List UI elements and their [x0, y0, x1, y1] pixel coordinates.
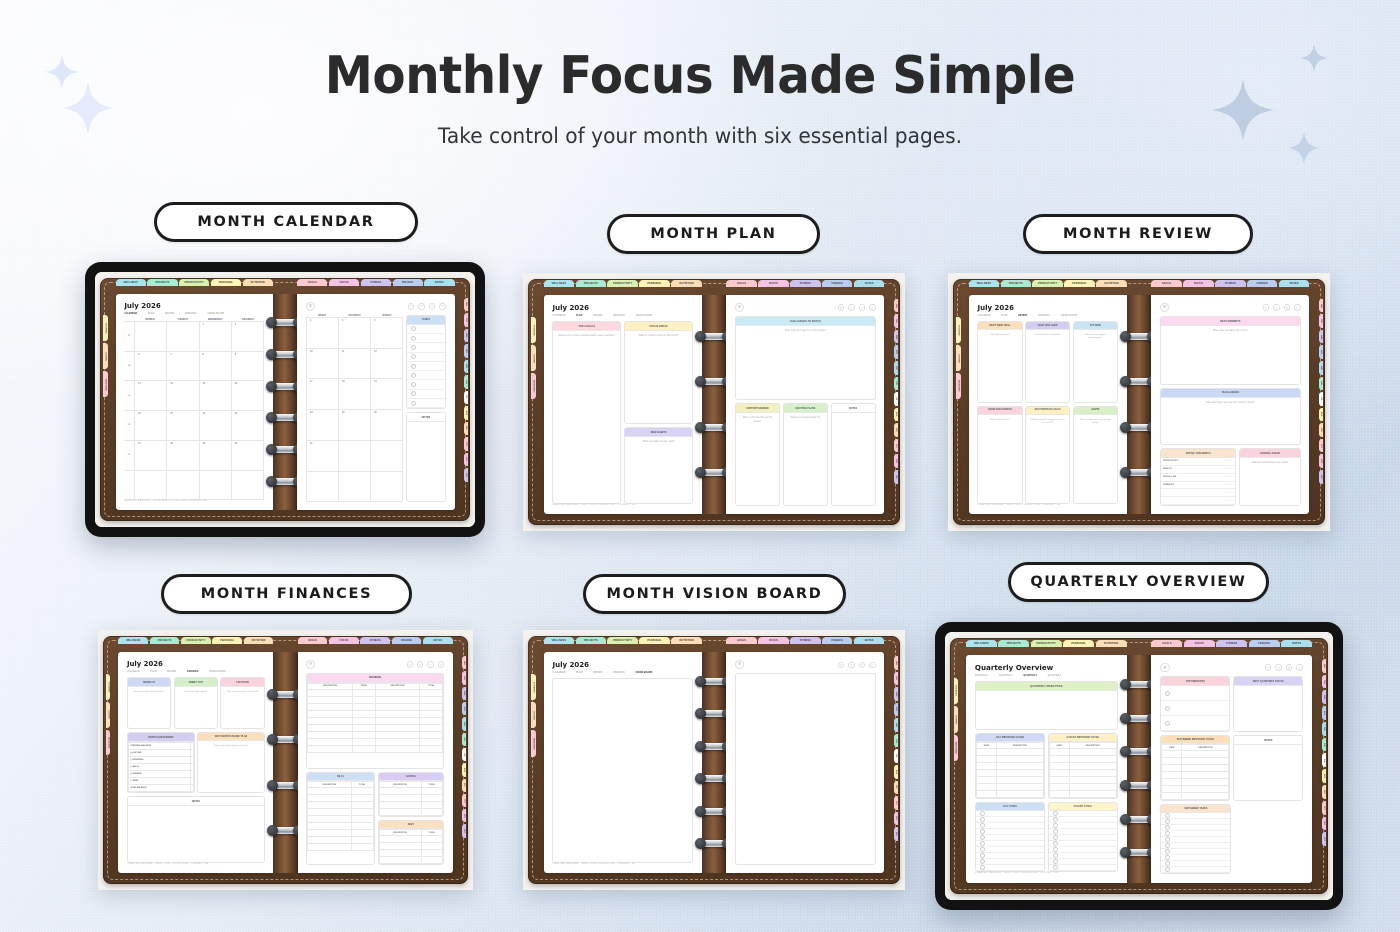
table-cell[interactable]	[1182, 751, 1229, 758]
top-tab-finance[interactable]: FINANCE	[393, 279, 423, 286]
table-cell[interactable]	[1069, 777, 1116, 784]
calendar-day-cell[interactable]: 5	[370, 318, 403, 348]
table-cell[interactable]	[351, 823, 373, 830]
calendar-day-cell[interactable]	[166, 471, 198, 500]
table-cell[interactable]	[308, 710, 353, 717]
calendar-day-cell[interactable]	[306, 472, 338, 502]
menu-icon[interactable]: ≡	[735, 303, 744, 312]
table-cell[interactable]	[1069, 791, 1116, 798]
star-rating[interactable]: ○○○○○	[1224, 484, 1233, 486]
table-row[interactable]	[308, 802, 373, 809]
mockup-month-finances[interactable]: July 2026CALENDAR·PLAN·REVIEW·FINANCES·V…	[98, 630, 473, 890]
table-row[interactable]	[379, 809, 442, 816]
rating-row[interactable]: PRODUCTIVITY○○○○○	[1161, 458, 1235, 466]
side-tab-apr[interactable]: APR	[894, 345, 898, 359]
side-tab-sep[interactable]: SEP	[1319, 423, 1323, 437]
table-cell[interactable]	[379, 857, 421, 864]
list-item[interactable]	[407, 399, 445, 408]
top-tab-finance[interactable]: FINANCE	[1249, 640, 1280, 647]
top-tab-goals[interactable]: GOALS	[298, 637, 328, 644]
side-tab-may[interactable]: MAY	[1322, 722, 1326, 736]
top-tab-goals[interactable]: GOALS	[726, 637, 756, 644]
side-tab-jun[interactable]: JUN	[1319, 377, 1323, 391]
calendar-day-cell[interactable]: 12	[370, 349, 403, 379]
table-cell[interactable]	[1049, 763, 1069, 770]
list-item[interactable]	[1161, 867, 1230, 873]
side-tab-nov[interactable]: NOV	[462, 809, 466, 822]
menu-icon[interactable]: ≡	[306, 302, 315, 311]
side-tab-dec[interactable]: DEC	[894, 827, 898, 841]
calendar-day-cell[interactable]: 18	[338, 379, 370, 409]
checkbox-icon[interactable]	[1165, 867, 1170, 872]
top-tab-finance[interactable]: FINANCE	[822, 280, 852, 287]
mockup-month-vision-board[interactable]: July 2026CALENDAR·PLAN·REVIEW·FINANCES·V…	[523, 630, 905, 890]
rating-row[interactable]: FINANCES○○○○○	[1161, 482, 1235, 490]
side-tab-oct[interactable]: OCT	[1319, 439, 1323, 453]
list-item[interactable]	[407, 371, 445, 380]
target-icon[interactable]: ○	[838, 662, 845, 669]
list-item[interactable]	[407, 380, 445, 389]
breakdown-row[interactable]: (-) BILLS	[128, 764, 193, 771]
checkbox-icon[interactable]	[411, 364, 416, 369]
checkbox-icon[interactable]	[980, 847, 985, 852]
checkbox-icon[interactable]	[1165, 849, 1170, 854]
table-cell[interactable]	[421, 802, 442, 809]
table-cell[interactable]	[352, 731, 375, 738]
table-cell[interactable]	[375, 689, 420, 696]
breakdown-value[interactable]	[190, 764, 193, 771]
calendar-day-cell[interactable]	[338, 472, 370, 502]
side-tab-covers[interactable]: COVERS	[954, 706, 958, 733]
breakdown-row[interactable]: FINAL BALANCE	[128, 785, 193, 792]
checkbox-icon[interactable]	[1165, 831, 1170, 836]
top-tab-personal[interactable]: PERSONAL	[212, 637, 242, 644]
side-tab-jun[interactable]: JUN	[462, 733, 466, 746]
breakdown-value[interactable]	[190, 778, 193, 785]
side-tab-jan[interactable]: JAN	[894, 299, 898, 313]
side-tab-apr[interactable]: APR	[894, 703, 898, 717]
top-tab-wellness[interactable]: WELLNESS	[116, 279, 146, 286]
top-tab-projects[interactable]: PROJECTS	[150, 637, 180, 644]
side-tab-jul[interactable]: JUL	[1322, 753, 1326, 767]
checkbox-icon[interactable]	[1165, 813, 1170, 818]
label-month-calendar[interactable]: MONTH CALENDAR	[154, 202, 418, 242]
side-tab-jun[interactable]: JUN	[894, 377, 898, 391]
table-cell[interactable]	[308, 717, 353, 724]
table-row[interactable]	[1162, 758, 1229, 765]
side-tab-aug[interactable]: AUG	[462, 763, 466, 776]
table-cell[interactable]	[1069, 749, 1116, 756]
breakdown-row[interactable]: (+) INCOME	[128, 750, 193, 757]
side-tab-nov[interactable]: NOV	[1322, 817, 1326, 831]
table-cell[interactable]	[1182, 786, 1229, 793]
checkbox-icon[interactable]	[411, 345, 416, 350]
table-cell[interactable]	[351, 802, 373, 809]
table-row[interactable]	[308, 731, 443, 738]
table-cell[interactable]	[308, 738, 353, 745]
table-cell[interactable]	[351, 816, 373, 823]
table-row[interactable]	[379, 843, 442, 850]
side-tab-oct[interactable]: OCT	[464, 437, 468, 451]
side-tab-covers[interactable]: COVERS	[956, 345, 960, 371]
top-tab-projects[interactable]: PROJECTS	[576, 637, 606, 644]
calendar-day-cell[interactable]: 8	[199, 352, 231, 381]
side-tab-idea-bank[interactable]: IDEA BANK	[531, 730, 535, 756]
droplet-icon[interactable]: ○	[429, 303, 435, 309]
table-cell[interactable]	[420, 689, 443, 696]
side-tab-feb[interactable]: FEB	[894, 672, 898, 686]
top-tab-personal[interactable]: PERSONAL	[1064, 280, 1094, 287]
calendar-day-cell[interactable]: 27	[134, 441, 166, 470]
table-cell[interactable]	[308, 689, 353, 696]
table-cell[interactable]	[1162, 779, 1182, 786]
table-cell[interactable]	[420, 703, 443, 710]
list-item[interactable]	[407, 325, 445, 334]
side-tab-apr[interactable]: APR	[464, 344, 468, 358]
table-row[interactable]	[976, 791, 1043, 798]
calendar-day-cell[interactable]: 4	[338, 318, 370, 348]
breakdown-row[interactable]: (-) SAVINGS	[128, 771, 193, 778]
table-row[interactable]	[1162, 765, 1229, 772]
table-cell[interactable]	[996, 791, 1043, 798]
top-tab-notes[interactable]: NOTES	[423, 637, 453, 644]
calendar-day-cell[interactable]	[231, 471, 264, 500]
breakdown-value[interactable]	[190, 771, 193, 778]
table-cell[interactable]	[1182, 758, 1229, 765]
table-cell[interactable]	[420, 738, 443, 745]
checkbox-icon[interactable]	[1053, 829, 1058, 834]
side-tab-covers[interactable]: COVERS	[106, 702, 110, 728]
top-tab-focus[interactable]: FOCUS	[758, 637, 788, 644]
table-row[interactable]	[976, 749, 1043, 756]
side-tab-sep[interactable]: SEP	[462, 779, 466, 792]
list-item[interactable]	[407, 334, 445, 343]
table-row[interactable]	[1049, 756, 1116, 763]
pen-icon[interactable]: ○	[869, 304, 876, 311]
side-tab-jan[interactable]: JAN	[1319, 299, 1323, 313]
calendar-day-cell[interactable]	[134, 322, 166, 351]
droplet-icon[interactable]: ○	[859, 662, 866, 669]
side-tab-covers[interactable]: COVERS	[103, 343, 107, 369]
checkbox-icon[interactable]	[980, 865, 985, 870]
top-tab-productivity[interactable]: PRODUCTIVITY	[607, 280, 637, 287]
table-cell[interactable]	[996, 777, 1043, 784]
side-tab-mar[interactable]: MAR	[894, 330, 898, 344]
side-tab-jun[interactable]: JUN	[1322, 738, 1326, 752]
side-tab-nov[interactable]: NOV	[894, 812, 898, 826]
sticker-icon[interactable]: ○	[848, 662, 855, 669]
top-tab-notes[interactable]: NOTES	[424, 279, 454, 286]
side-tab-apr[interactable]: APR	[462, 702, 466, 715]
top-tab-wellness[interactable]: WELLNESS	[969, 280, 999, 287]
top-tab-goals[interactable]: GOALS	[1151, 640, 1182, 647]
target-icon[interactable]: ○	[408, 303, 414, 309]
table-cell[interactable]	[1182, 772, 1229, 779]
top-tab-notes[interactable]: NOTES	[1279, 280, 1309, 287]
side-tab-mar[interactable]: MAR	[1319, 330, 1323, 344]
side-tab-idea-bank[interactable]: IDEA BANK	[956, 373, 960, 399]
table-cell[interactable]	[379, 795, 421, 802]
calendar-day-cell[interactable]	[370, 441, 403, 471]
rating-row[interactable]: HEALTH○○○○○	[1161, 466, 1235, 474]
table-cell[interactable]	[1049, 784, 1069, 791]
table-cell[interactable]	[308, 809, 351, 816]
side-tab-sep[interactable]: SEP	[1322, 785, 1326, 799]
checkbox-icon[interactable]	[411, 354, 416, 359]
checkbox-icon[interactable]	[1053, 841, 1058, 846]
checkbox-icon[interactable]	[980, 835, 985, 840]
top-tab-wellness[interactable]: WELLNESS	[966, 640, 997, 647]
table-row[interactable]	[379, 802, 442, 809]
list-item[interactable]	[976, 865, 1044, 871]
table-cell[interactable]	[308, 823, 351, 830]
table-cell[interactable]	[421, 857, 442, 864]
top-tab-focus[interactable]: FOCUS	[329, 279, 359, 286]
side-tab-nov[interactable]: NOV	[1319, 454, 1323, 468]
side-tab-mar[interactable]: MAR	[464, 329, 468, 343]
side-tab-oct[interactable]: OCT	[894, 439, 898, 453]
list-item[interactable]	[1161, 716, 1229, 731]
table-cell[interactable]	[308, 696, 353, 703]
top-tab-goals[interactable]: GOALS	[726, 280, 756, 287]
top-tab-fitness[interactable]: FITNESS	[360, 637, 390, 644]
table-row[interactable]	[308, 703, 443, 710]
top-tab-nutrition[interactable]: NUTRITION	[671, 280, 701, 287]
side-tab-dec[interactable]: DEC	[462, 824, 466, 837]
checkbox-icon[interactable]	[1165, 706, 1170, 711]
mockup-month-plan[interactable]: July 2026CALENDAR·PLAN·REVIEW·FINANCES·V…	[523, 273, 905, 531]
table-cell[interactable]	[308, 745, 353, 752]
side-tab-feb[interactable]: FEB	[464, 313, 468, 327]
checkbox-icon[interactable]	[1165, 843, 1170, 848]
star-rating[interactable]: ○○○○○	[1224, 492, 1233, 494]
table-cell[interactable]	[420, 724, 443, 731]
table-row[interactable]	[308, 717, 443, 724]
side-tab-jan[interactable]: JAN	[894, 656, 898, 670]
checkbox-icon[interactable]	[980, 823, 985, 828]
table-row[interactable]	[308, 809, 373, 816]
table-row[interactable]	[308, 837, 373, 844]
table-cell[interactable]	[421, 850, 442, 857]
side-tab-jul[interactable]: JUL	[894, 749, 898, 763]
table-row[interactable]	[308, 710, 443, 717]
side-tab-dec[interactable]: DEC	[1319, 470, 1323, 484]
checkbox-icon[interactable]	[1053, 835, 1058, 840]
calendar-day-cell[interactable]	[370, 472, 403, 502]
table-cell[interactable]	[351, 837, 373, 844]
calendar-day-cell[interactable]: 31	[306, 441, 338, 471]
table-row[interactable]	[976, 763, 1043, 770]
mockup-quarterly-overview[interactable]: Quarterly OverviewQUARTER 1·QUARTER 2·QU…	[935, 622, 1343, 910]
top-tab-nutrition[interactable]: NUTRITION	[1096, 640, 1127, 647]
side-tab-feb[interactable]: FEB	[1319, 314, 1323, 328]
vision-canvas-right[interactable]	[735, 673, 875, 865]
top-tab-nutrition[interactable]: NUTRITION	[243, 279, 273, 286]
top-tab-focus[interactable]: FOCUS	[758, 280, 788, 287]
table-cell[interactable]	[976, 784, 996, 791]
top-tab-productivity[interactable]: PRODUCTIVITY	[181, 637, 211, 644]
top-tab-finance[interactable]: FINANCE	[1247, 280, 1277, 287]
table-row[interactable]	[1049, 749, 1116, 756]
side-tab-stickers[interactable]: STICKERS	[531, 317, 535, 343]
calendar-day-cell[interactable]	[199, 471, 231, 500]
table-row[interactable]	[308, 795, 373, 802]
checkbox-icon[interactable]	[980, 811, 985, 816]
checkbox-icon[interactable]	[411, 336, 416, 341]
table-cell[interactable]	[351, 809, 373, 816]
side-tab-jan[interactable]: JAN	[462, 656, 466, 669]
top-tab-wellness[interactable]: WELLNESS	[544, 280, 574, 287]
table-cell[interactable]	[308, 837, 351, 844]
rating-row[interactable]: ○○○○○	[1161, 497, 1235, 505]
side-tab-oct[interactable]: OCT	[894, 796, 898, 810]
top-tab-productivity[interactable]: PRODUCTIVITY	[179, 279, 209, 286]
table-row[interactable]	[308, 844, 373, 851]
calendar-day-cell[interactable]	[166, 322, 198, 351]
side-tab-aug[interactable]: AUG	[1319, 408, 1323, 422]
table-row[interactable]	[1049, 763, 1116, 770]
calendar-day-cell[interactable]: 14	[166, 381, 198, 410]
side-tab-sep[interactable]: SEP	[894, 423, 898, 437]
table-cell[interactable]	[1162, 758, 1182, 765]
table-cell[interactable]	[1182, 793, 1229, 800]
table-cell[interactable]	[1182, 765, 1229, 772]
droplet-icon[interactable]: ○	[427, 661, 433, 667]
side-tab-oct[interactable]: OCT	[462, 794, 466, 807]
side-tab-aug[interactable]: AUG	[894, 408, 898, 422]
table-cell[interactable]	[352, 710, 375, 717]
table-row[interactable]	[379, 788, 442, 795]
calendar-day-cell[interactable]: 20	[134, 411, 166, 440]
top-tab-goals[interactable]: GOALS	[1151, 280, 1181, 287]
side-tab-mar[interactable]: MAR	[1322, 690, 1326, 704]
side-tab-stickers[interactable]: STICKERS	[956, 317, 960, 343]
side-tab-aug[interactable]: AUG	[894, 765, 898, 779]
checkbox-icon[interactable]	[1053, 823, 1058, 828]
checkbox-icon[interactable]	[980, 859, 985, 864]
table-row[interactable]	[1049, 791, 1116, 798]
top-tab-projects[interactable]: PROJECTS	[998, 640, 1029, 647]
list-item[interactable]	[407, 362, 445, 371]
table-cell[interactable]	[1162, 793, 1182, 800]
calendar-day-cell[interactable]: 3	[306, 318, 338, 348]
table-cell[interactable]	[375, 745, 420, 752]
top-tab-notes[interactable]: NOTES	[854, 280, 884, 287]
breakdown-value[interactable]	[190, 785, 193, 792]
checkbox-icon[interactable]	[411, 401, 416, 406]
table-cell[interactable]	[308, 788, 351, 795]
pen-icon[interactable]: ○	[1296, 664, 1303, 671]
breakdown-value[interactable]	[190, 743, 193, 750]
target-icon[interactable]: ○	[838, 304, 845, 311]
checkbox-icon[interactable]	[1165, 837, 1170, 842]
side-tab-sep[interactable]: SEP	[464, 422, 468, 436]
star-rating[interactable]: ○○○○○	[1224, 500, 1233, 502]
table-cell[interactable]	[379, 843, 421, 850]
table-cell[interactable]	[375, 703, 420, 710]
calendar-day-cell[interactable]: 9	[231, 352, 264, 381]
top-tab-personal[interactable]: PERSONAL	[211, 279, 241, 286]
table-cell[interactable]	[420, 717, 443, 724]
side-tab-stickers[interactable]: STICKERS	[106, 674, 110, 700]
sticker-icon[interactable]: ○	[848, 304, 855, 311]
table-cell[interactable]	[1182, 779, 1229, 786]
menu-icon[interactable]: ≡	[1160, 663, 1169, 672]
vision-canvas-left[interactable]	[552, 678, 692, 863]
checkbox-icon[interactable]	[980, 853, 985, 858]
rating-row[interactable]: SOCIAL LIFE○○○○○	[1161, 474, 1235, 482]
side-tab-nov[interactable]: NOV	[464, 453, 468, 467]
sticker-icon[interactable]: ○	[418, 303, 424, 309]
table-row[interactable]	[1162, 772, 1229, 779]
table-row[interactable]	[976, 756, 1043, 763]
breakdown-row[interactable]: (-) DEBT	[128, 778, 193, 785]
pen-icon[interactable]: ○	[1294, 304, 1301, 311]
top-tab-nutrition[interactable]: NUTRITION	[671, 637, 701, 644]
checkbox-icon[interactable]	[411, 382, 416, 387]
top-tab-fitness[interactable]: FITNESS	[790, 637, 820, 644]
checkbox-icon[interactable]	[411, 326, 416, 331]
checkbox-icon[interactable]	[1165, 819, 1170, 824]
side-tab-feb[interactable]: FEB	[894, 314, 898, 328]
table-cell[interactable]	[352, 717, 375, 724]
table-cell[interactable]	[308, 795, 351, 802]
calendar-day-cell[interactable]: 2	[231, 322, 264, 351]
table-cell[interactable]	[308, 703, 353, 710]
table-cell[interactable]	[379, 850, 421, 857]
top-tab-nutrition[interactable]: NUTRITION	[1096, 280, 1126, 287]
calendar-day-cell[interactable]: 21	[166, 411, 198, 440]
table-cell[interactable]	[375, 731, 420, 738]
droplet-icon[interactable]: ○	[859, 304, 866, 311]
calendar-day-cell[interactable]: 11	[338, 349, 370, 379]
star-rating[interactable]: ○○○○○	[1224, 468, 1233, 470]
table-row[interactable]	[308, 738, 443, 745]
side-tab-oct[interactable]: OCT	[1322, 801, 1326, 815]
checkbox-icon[interactable]	[980, 817, 985, 822]
table-cell[interactable]	[976, 791, 996, 798]
table-row[interactable]	[1162, 779, 1229, 786]
table-cell[interactable]	[1069, 784, 1116, 791]
top-tab-fitness[interactable]: FITNESS	[1216, 640, 1247, 647]
table-cell[interactable]	[379, 788, 421, 795]
table-row[interactable]	[308, 689, 443, 696]
menu-icon[interactable]: ≡	[306, 660, 315, 669]
list-item[interactable]	[407, 353, 445, 362]
checkbox-icon[interactable]	[980, 829, 985, 834]
table-cell[interactable]	[1049, 777, 1069, 784]
table-cell[interactable]	[351, 830, 373, 837]
side-tab-jul[interactable]: JUL	[894, 392, 898, 406]
top-tab-focus[interactable]: FOCUS	[1183, 280, 1213, 287]
checkbox-icon[interactable]	[1165, 825, 1170, 830]
table-cell[interactable]	[352, 724, 375, 731]
rating-row[interactable]: ○○○○○	[1161, 489, 1235, 497]
top-tab-personal[interactable]: PERSONAL	[639, 280, 669, 287]
label-month-review[interactable]: MONTH REVIEW	[1023, 214, 1253, 254]
calendar-day-cell[interactable]: 15	[199, 381, 231, 410]
list-item[interactable]	[1049, 865, 1117, 871]
side-tab-may[interactable]: MAY	[462, 717, 466, 730]
table-cell[interactable]	[996, 770, 1043, 777]
table-cell[interactable]	[976, 777, 996, 784]
table-cell[interactable]	[1162, 772, 1182, 779]
checkbox-icon[interactable]	[1165, 861, 1170, 866]
side-tab-jan[interactable]: JAN	[464, 298, 468, 312]
table-cell[interactable]	[1162, 765, 1182, 772]
pen-icon[interactable]: ○	[438, 661, 444, 667]
calendar-day-cell[interactable]	[134, 471, 166, 500]
